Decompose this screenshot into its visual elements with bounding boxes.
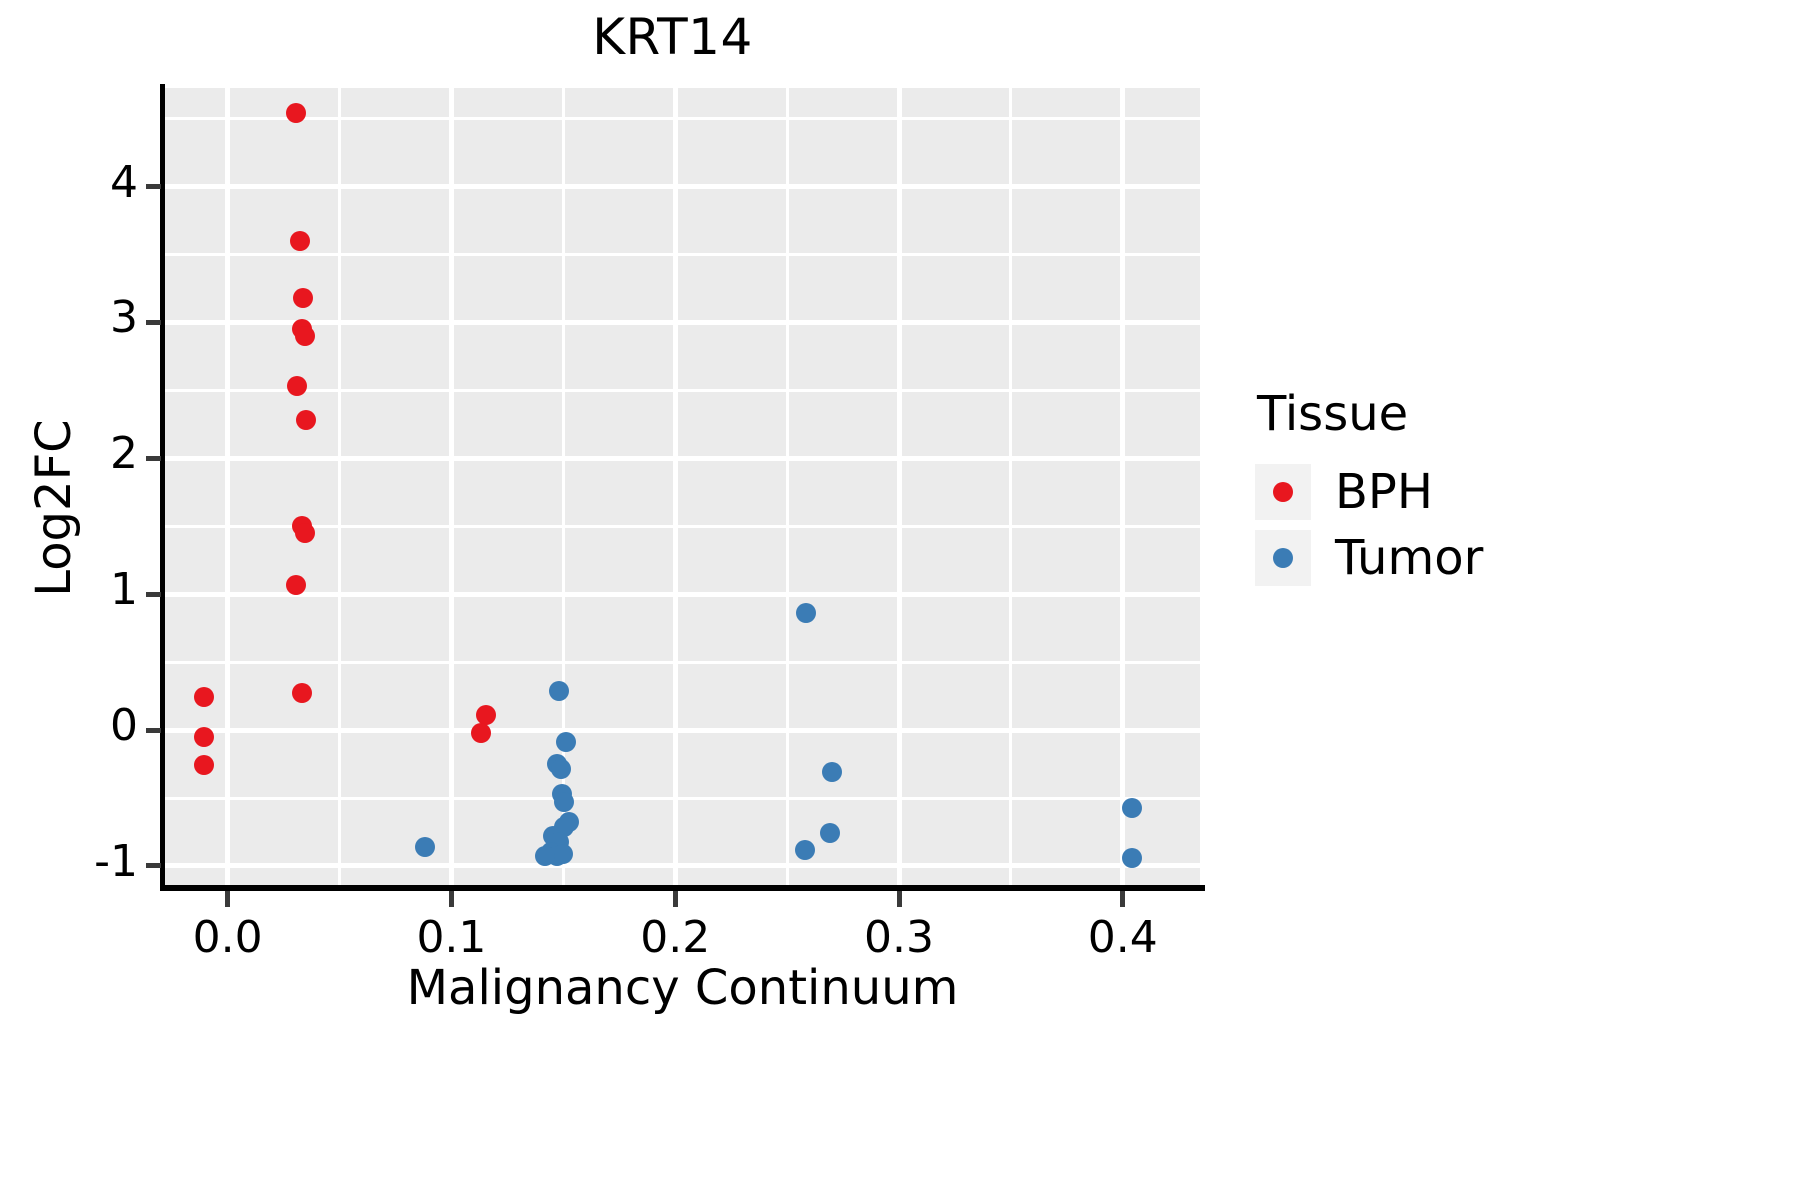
x-axis-tick: [1120, 891, 1125, 907]
x-axis-tick: [225, 891, 230, 907]
y-axis-tick: [146, 456, 161, 461]
gridline-x-major: [449, 88, 454, 885]
legend-key-tumor: [1255, 530, 1311, 586]
x-axis-tick-label: 0.1: [381, 912, 521, 963]
data-point-tumor: [1122, 848, 1142, 868]
x-axis-tick-label: 0.2: [605, 912, 745, 963]
y-axis-tick: [146, 863, 161, 868]
data-point-bph: [194, 727, 214, 747]
data-point-bph: [471, 723, 491, 743]
data-point-bph: [295, 523, 315, 543]
data-point-bph: [296, 410, 316, 430]
data-point-bph: [292, 683, 312, 703]
x-axis-line: [160, 885, 1205, 891]
y-axis-tick: [146, 728, 161, 733]
plot-panel: [165, 88, 1200, 885]
y-axis-tick-label: 0: [110, 700, 138, 751]
gridline-x-minor: [786, 88, 789, 885]
gridline-x-major: [1120, 88, 1125, 885]
gridline-y-major: [165, 456, 1200, 461]
y-axis-tick-label: -1: [94, 836, 138, 887]
gridline-y-major: [165, 184, 1200, 189]
x-axis-tick: [897, 891, 902, 907]
legend-label-tumor: Tumor: [1335, 534, 1483, 582]
y-axis-line: [160, 84, 165, 889]
gridline-x-minor: [1009, 88, 1012, 885]
legend-item-tumor[interactable]: Tumor: [1255, 530, 1585, 586]
data-point-tumor: [553, 844, 573, 864]
gridline-y-minor: [165, 661, 1200, 664]
gridline-y-minor: [165, 797, 1200, 800]
gridline-y-major: [165, 592, 1200, 597]
page-title: KRT14: [0, 8, 1345, 66]
data-point-tumor: [820, 823, 840, 843]
x-axis-tick-label: 0.3: [829, 912, 969, 963]
gridline-y-major: [165, 320, 1200, 325]
data-point-bph: [286, 103, 306, 123]
data-point-bph: [287, 376, 307, 396]
x-axis-tick: [673, 891, 678, 907]
figure-root: KRT14 Log2FC Malignancy Continuum Tissue…: [0, 0, 1800, 1200]
data-point-bph: [194, 755, 214, 775]
gridline-x-major: [225, 88, 230, 885]
data-point-tumor: [556, 732, 576, 752]
gridline-x-major: [897, 88, 902, 885]
legend-key-bph: [1255, 464, 1311, 520]
x-axis-tick-label: 0.0: [158, 912, 298, 963]
gridline-x-minor: [338, 88, 341, 885]
gridline-y-minor: [165, 525, 1200, 528]
y-axis-tick: [146, 320, 161, 325]
y-axis-tick: [146, 184, 161, 189]
data-point-tumor: [415, 837, 435, 857]
y-axis-tick-label: 3: [110, 292, 138, 343]
legend-title: Tissue: [1257, 390, 1585, 438]
y-axis-tick-label: 2: [110, 428, 138, 479]
gridline-y-minor: [165, 389, 1200, 392]
data-point-tumor: [822, 762, 842, 782]
y-axis-tick-label: 4: [110, 157, 138, 208]
x-axis-tick-label: 0.4: [1053, 912, 1193, 963]
legend-item-bph[interactable]: BPH: [1255, 464, 1585, 520]
data-point-bph: [293, 288, 313, 308]
gridline-y-minor: [165, 117, 1200, 120]
data-point-tumor: [796, 603, 816, 623]
y-axis-title: Log2FC: [26, 258, 82, 758]
gridline-y-minor: [165, 253, 1200, 256]
x-axis-tick: [449, 891, 454, 907]
y-axis-tick: [146, 592, 161, 597]
y-axis-tick-label: 1: [110, 564, 138, 615]
data-point-tumor: [554, 792, 574, 812]
data-point-tumor: [551, 759, 571, 779]
data-point-bph: [290, 231, 310, 251]
legend-dot-icon-bph: [1273, 482, 1293, 502]
data-point-bph: [286, 575, 306, 595]
data-point-tumor: [1122, 798, 1142, 818]
gridline-x-major: [673, 88, 678, 885]
data-point-tumor: [795, 840, 815, 860]
data-point-bph: [295, 326, 315, 346]
gridline-y-major: [165, 728, 1200, 733]
legend-dot-icon-tumor: [1273, 548, 1293, 568]
x-axis-title: Malignancy Continuum: [165, 960, 1200, 1016]
legend: Tissue BPH Tumor: [1255, 390, 1585, 596]
data-point-tumor: [549, 681, 569, 701]
data-point-bph: [194, 687, 214, 707]
legend-label-bph: BPH: [1335, 468, 1433, 516]
gridline-y-major: [165, 863, 1200, 868]
